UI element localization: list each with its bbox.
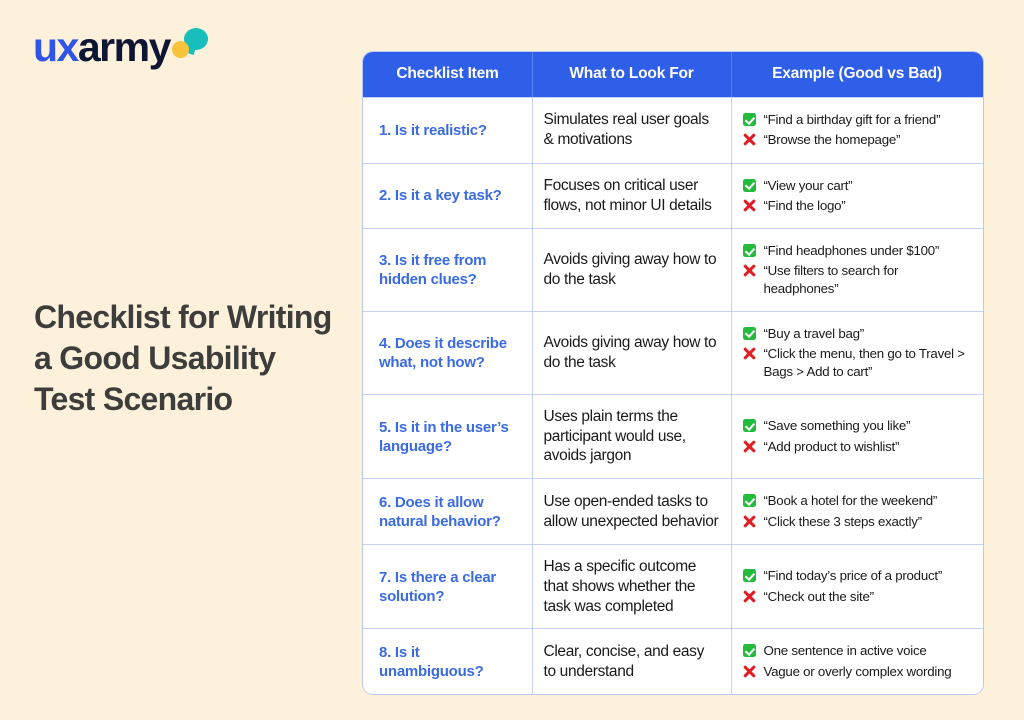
example-cell: “Find headphones under $100”“Use filters…: [731, 229, 983, 312]
table-row: 6. Does it allow natural behavior?Use op…: [363, 479, 983, 545]
what-to-look-for-cell: Clear, concise, and easy to understand: [532, 629, 731, 694]
example-good-text: “Find headphones under $100”: [764, 242, 940, 259]
cross-icon: [743, 264, 756, 277]
example-bad-text: “Check out the site”: [764, 588, 874, 605]
example-bad-line: Vague or overly complex wording: [743, 663, 974, 680]
cross-icon: [743, 440, 756, 453]
column-header-what-to-look-for: What to Look For: [532, 52, 731, 98]
checklist-item-cell: 5. Is it in the user’s language?: [363, 394, 532, 478]
table-header: Checklist Item What to Look For Example …: [363, 52, 983, 98]
uxarmy-logo: uxarmy: [33, 27, 207, 68]
check-icon: [743, 244, 756, 257]
what-to-look-for-cell: Simulates real user goals & motivations: [532, 98, 731, 164]
checklist-table-container: Checklist Item What to Look For Example …: [363, 52, 983, 694]
what-to-look-for-cell: Has a specific outcome that shows whethe…: [532, 544, 731, 628]
cross-icon: [743, 133, 756, 146]
example-bad-text: “Click these 3 steps exactly”: [764, 513, 922, 530]
example-cell: “Book a hotel for the weekend”“Click the…: [731, 479, 983, 545]
example-good-line: “Save something you like”: [743, 417, 974, 434]
checklist-item-cell: 7. Is there a clear solution?: [363, 544, 532, 628]
example-good-text: “Save something you like”: [764, 417, 911, 434]
example-good-line: “Book a hotel for the weekend”: [743, 492, 974, 509]
example-bad-text: “Use filters to search for headphones”: [764, 262, 974, 297]
check-icon: [743, 179, 756, 192]
cross-icon: [743, 199, 756, 212]
column-header-example: Example (Good vs Bad): [731, 52, 983, 98]
example-bad-text: “Click the menu, then go to Travel > Bag…: [764, 345, 974, 380]
what-to-look-for-cell: Avoids giving away how to do the task: [532, 311, 731, 394]
cross-icon: [743, 590, 756, 603]
table-row: 3. Is it free from hidden clues?Avoids g…: [363, 229, 983, 312]
example-good-text: “Buy a travel bag”: [764, 325, 864, 342]
what-to-look-for-cell: Focuses on critical user flows, not mino…: [532, 163, 731, 229]
cross-icon: [743, 515, 756, 528]
example-good-line: “Find headphones under $100”: [743, 242, 974, 259]
table-row: 1. Is it realistic?Simulates real user g…: [363, 98, 983, 164]
table-header-row: Checklist Item What to Look For Example …: [363, 52, 983, 98]
check-icon: [743, 113, 756, 126]
example-good-line: One sentence in active voice: [743, 642, 974, 659]
check-icon: [743, 644, 756, 657]
checklist-table: Checklist Item What to Look For Example …: [363, 52, 983, 694]
example-good-line: “View your cart”: [743, 177, 974, 194]
checklist-item-cell: 4. Does it describe what, not how?: [363, 311, 532, 394]
example-bad-text: “Find the logo”: [764, 197, 846, 214]
logo-marks: [171, 27, 207, 67]
what-to-look-for-cell: Use open-ended tasks to allow unexpected…: [532, 479, 731, 545]
example-bad-line: “Browse the homepage”: [743, 131, 974, 148]
example-cell: “Find a birthday gift for a friend”“Brow…: [731, 98, 983, 164]
example-cell: “Find today’s price of a product”“Check …: [731, 544, 983, 628]
example-good-line: “Find today’s price of a product”: [743, 567, 974, 584]
logo-wordmark: uxarmy: [33, 27, 170, 68]
table-row: 8. Is it unambiguous?Clear, concise, and…: [363, 629, 983, 694]
example-good-text: “Book a hotel for the weekend”: [764, 492, 938, 509]
check-icon: [743, 494, 756, 507]
page-title: Checklist for Writing a Good Usability T…: [34, 297, 334, 420]
cross-icon: [743, 665, 756, 678]
example-bad-line: “Find the logo”: [743, 197, 974, 214]
example-bad-line: “Click the menu, then go to Travel > Bag…: [743, 345, 974, 380]
example-good-line: “Buy a travel bag”: [743, 325, 974, 342]
example-cell: “Buy a travel bag”“Click the menu, then …: [731, 311, 983, 394]
table-body: 1. Is it realistic?Simulates real user g…: [363, 98, 983, 694]
checklist-item-cell: 8. Is it unambiguous?: [363, 629, 532, 694]
table-row: 4. Does it describe what, not how?Avoids…: [363, 311, 983, 394]
logo-text-ux: ux: [33, 24, 78, 70]
example-bad-text: Vague or overly complex wording: [764, 663, 952, 680]
check-icon: [743, 569, 756, 582]
example-cell: “Save something you like”“Add product to…: [731, 394, 983, 478]
example-good-text: “Find today’s price of a product”: [764, 567, 943, 584]
what-to-look-for-cell: Avoids giving away how to do the task: [532, 229, 731, 312]
table-row: 5. Is it in the user’s language?Uses pla…: [363, 394, 983, 478]
checklist-item-cell: 3. Is it free from hidden clues?: [363, 229, 532, 312]
example-bad-text: “Add product to wishlist”: [764, 438, 900, 455]
what-to-look-for-cell: Uses plain terms the participant would u…: [532, 394, 731, 478]
checklist-item-cell: 2. Is it a key task?: [363, 163, 532, 229]
cross-icon: [743, 347, 756, 360]
table-row: 2. Is it a key task?Focuses on critical …: [363, 163, 983, 229]
example-good-text: “View your cart”: [764, 177, 853, 194]
check-icon: [743, 327, 756, 340]
example-good-line: “Find a birthday gift for a friend”: [743, 111, 974, 128]
example-good-text: One sentence in active voice: [764, 642, 927, 659]
example-cell: “View your cart”“Find the logo”: [731, 163, 983, 229]
checklist-item-cell: 1. Is it realistic?: [363, 98, 532, 164]
example-bad-text: “Browse the homepage”: [764, 131, 901, 148]
logo-text-army: army: [78, 24, 170, 70]
table-row: 7. Is there a clear solution?Has a speci…: [363, 544, 983, 628]
example-bad-line: “Use filters to search for headphones”: [743, 262, 974, 297]
yellow-dot-icon: [172, 41, 189, 58]
example-bad-line: “Check out the site”: [743, 588, 974, 605]
check-icon: [743, 419, 756, 432]
example-cell: One sentence in active voiceVague or ove…: [731, 629, 983, 694]
example-bad-line: “Click these 3 steps exactly”: [743, 513, 974, 530]
checklist-item-cell: 6. Does it allow natural behavior?: [363, 479, 532, 545]
example-bad-line: “Add product to wishlist”: [743, 438, 974, 455]
example-good-text: “Find a birthday gift for a friend”: [764, 111, 941, 128]
column-header-checklist-item: Checklist Item: [363, 52, 532, 98]
